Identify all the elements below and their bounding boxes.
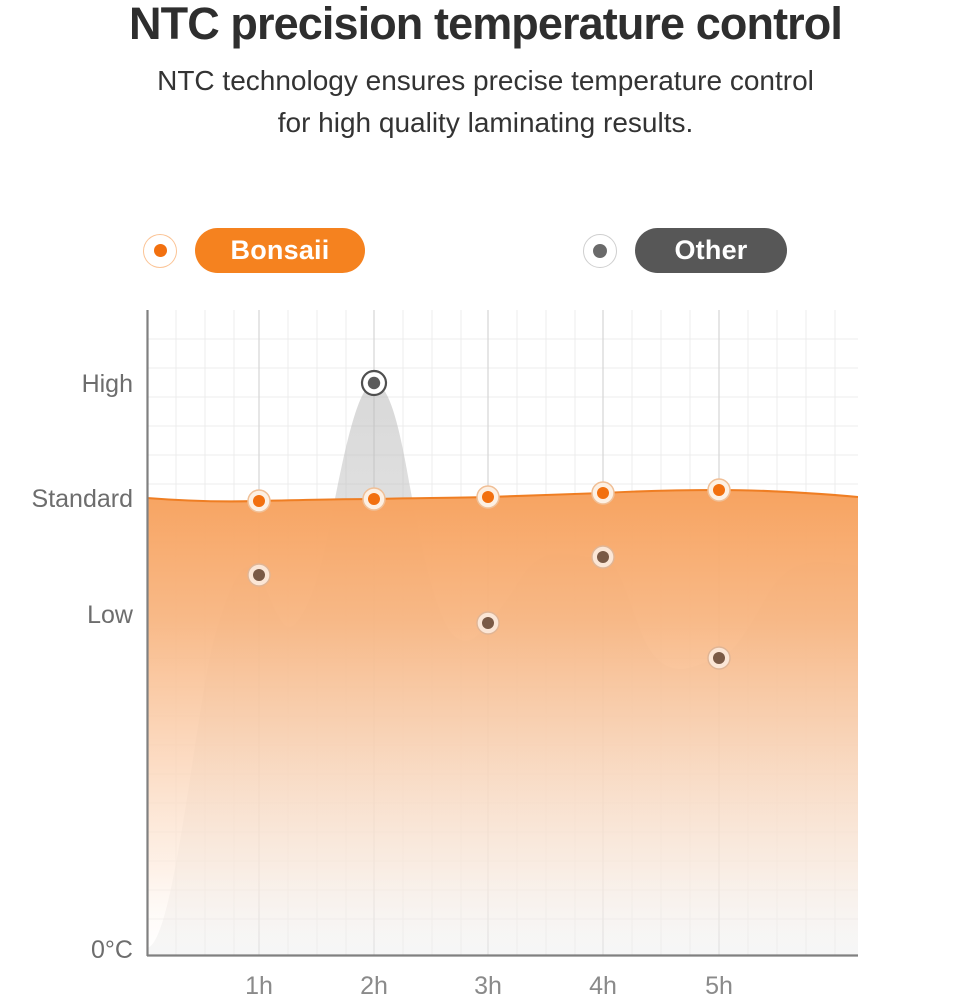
data-point-bonsaii-3h xyxy=(477,486,499,508)
y-axis-label-standard: Standard xyxy=(32,487,133,512)
temperature-control-infographic: NTC precision temperature control NTC te… xyxy=(0,0,971,1000)
y-axis-label-zero: 0°C xyxy=(91,938,133,963)
x-axis-label-2h: 2h xyxy=(339,974,409,999)
data-point-bonsaii-4h xyxy=(592,482,614,504)
x-axis-label-1h: 1h xyxy=(224,974,294,999)
data-point-other-2h xyxy=(362,371,386,395)
data-point-other-3h xyxy=(477,612,499,634)
data-point-bonsaii-5h xyxy=(708,479,730,501)
data-point-other-5h xyxy=(708,647,730,669)
data-point-other-4h xyxy=(592,546,614,568)
data-point-bonsaii-1h xyxy=(248,490,270,512)
chart-svg xyxy=(0,0,971,1000)
data-point-other-1h xyxy=(248,564,270,586)
x-axis-label-3h: 3h xyxy=(453,974,523,999)
series-bonsaii-area xyxy=(147,490,858,956)
y-axis-label-high: High xyxy=(82,372,133,397)
temperature-area-chart: High Standard Low 0°C 1h 2h 3h 4h 5h xyxy=(0,0,971,1000)
x-axis-label-5h: 5h xyxy=(684,974,754,999)
y-axis-label-low: Low xyxy=(87,603,133,628)
x-axis-label-4h: 4h xyxy=(568,974,638,999)
data-point-bonsaii-2h xyxy=(363,488,385,510)
